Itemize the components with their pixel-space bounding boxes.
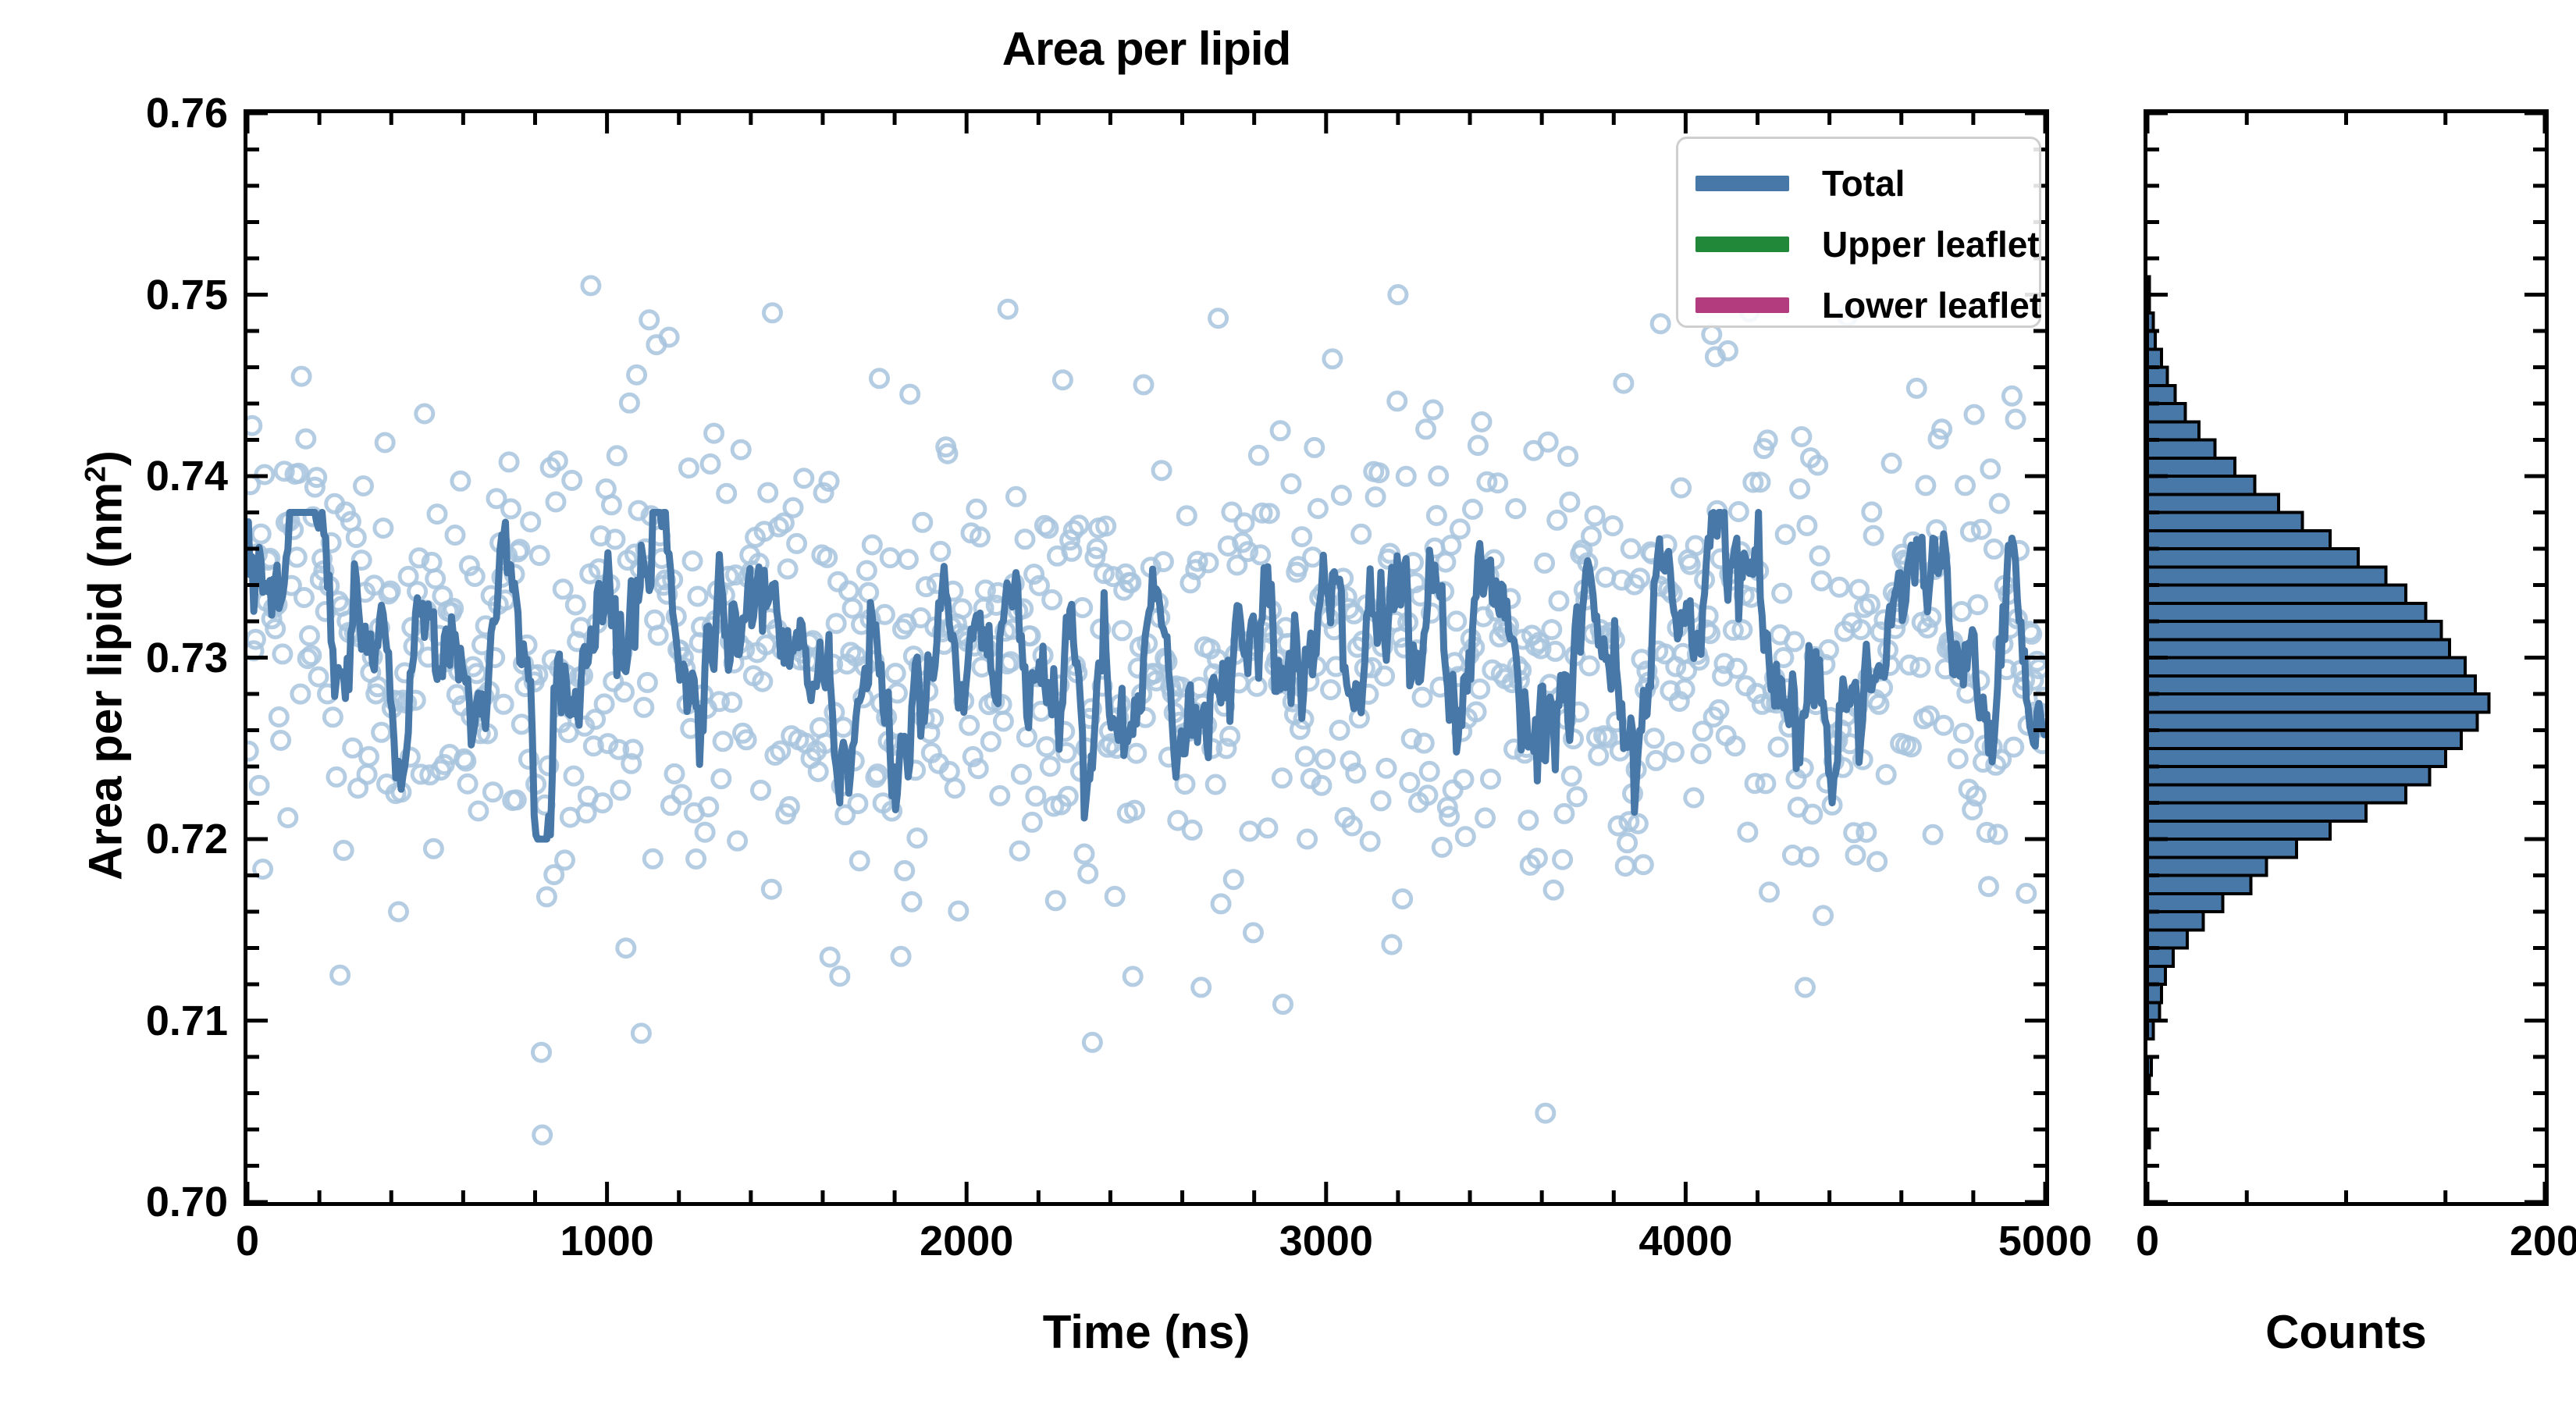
x-tick-label: 3000 [1209, 1217, 1443, 1265]
legend-label: Total [1822, 162, 1905, 205]
histogram-x-tick-label: 200 [2467, 1217, 2576, 1265]
x-tick-label: 0 [130, 1217, 365, 1265]
histogram-axes [2144, 109, 2549, 1206]
legend-swatch [1695, 297, 1789, 313]
legend-swatch [1695, 176, 1789, 191]
page-title: Area per lipid [244, 22, 2049, 76]
y-axis-title-suffix: ) [80, 450, 132, 466]
histogram-x-tick-label: 0 [2069, 1217, 2226, 1265]
histogram-x-axis-title: Counts [2144, 1305, 2549, 1359]
legend-box[interactable]: TotalUpper leafletLower leaflet [1676, 137, 2041, 328]
legend-item[interactable]: Upper leaflet [1678, 214, 2039, 275]
legend-item[interactable]: Lower leaflet [1678, 275, 2039, 336]
legend-label: Lower leaflet [1822, 284, 2041, 326]
x-tick-label: 4000 [1568, 1217, 1802, 1265]
histogram-axis-ticks [2147, 113, 2545, 1202]
x-tick-label: 1000 [490, 1217, 724, 1265]
y-axis-title-superscript: 2 [79, 466, 112, 482]
y-axis-title-prefix: Area per lipid (nm [80, 482, 132, 880]
legend-swatch [1695, 237, 1789, 252]
x-tick-label: 2000 [849, 1217, 1083, 1265]
y-axis-title: Area per lipid (nm2) [79, 119, 133, 1212]
figure-canvas: Area per lipid 0.700.710.720.730.740.750… [0, 0, 2576, 1405]
legend-label: Upper leaflet [1822, 223, 2040, 265]
legend-item[interactable]: Total [1678, 153, 2039, 214]
x-axis-title: Time (ns) [244, 1305, 2049, 1359]
